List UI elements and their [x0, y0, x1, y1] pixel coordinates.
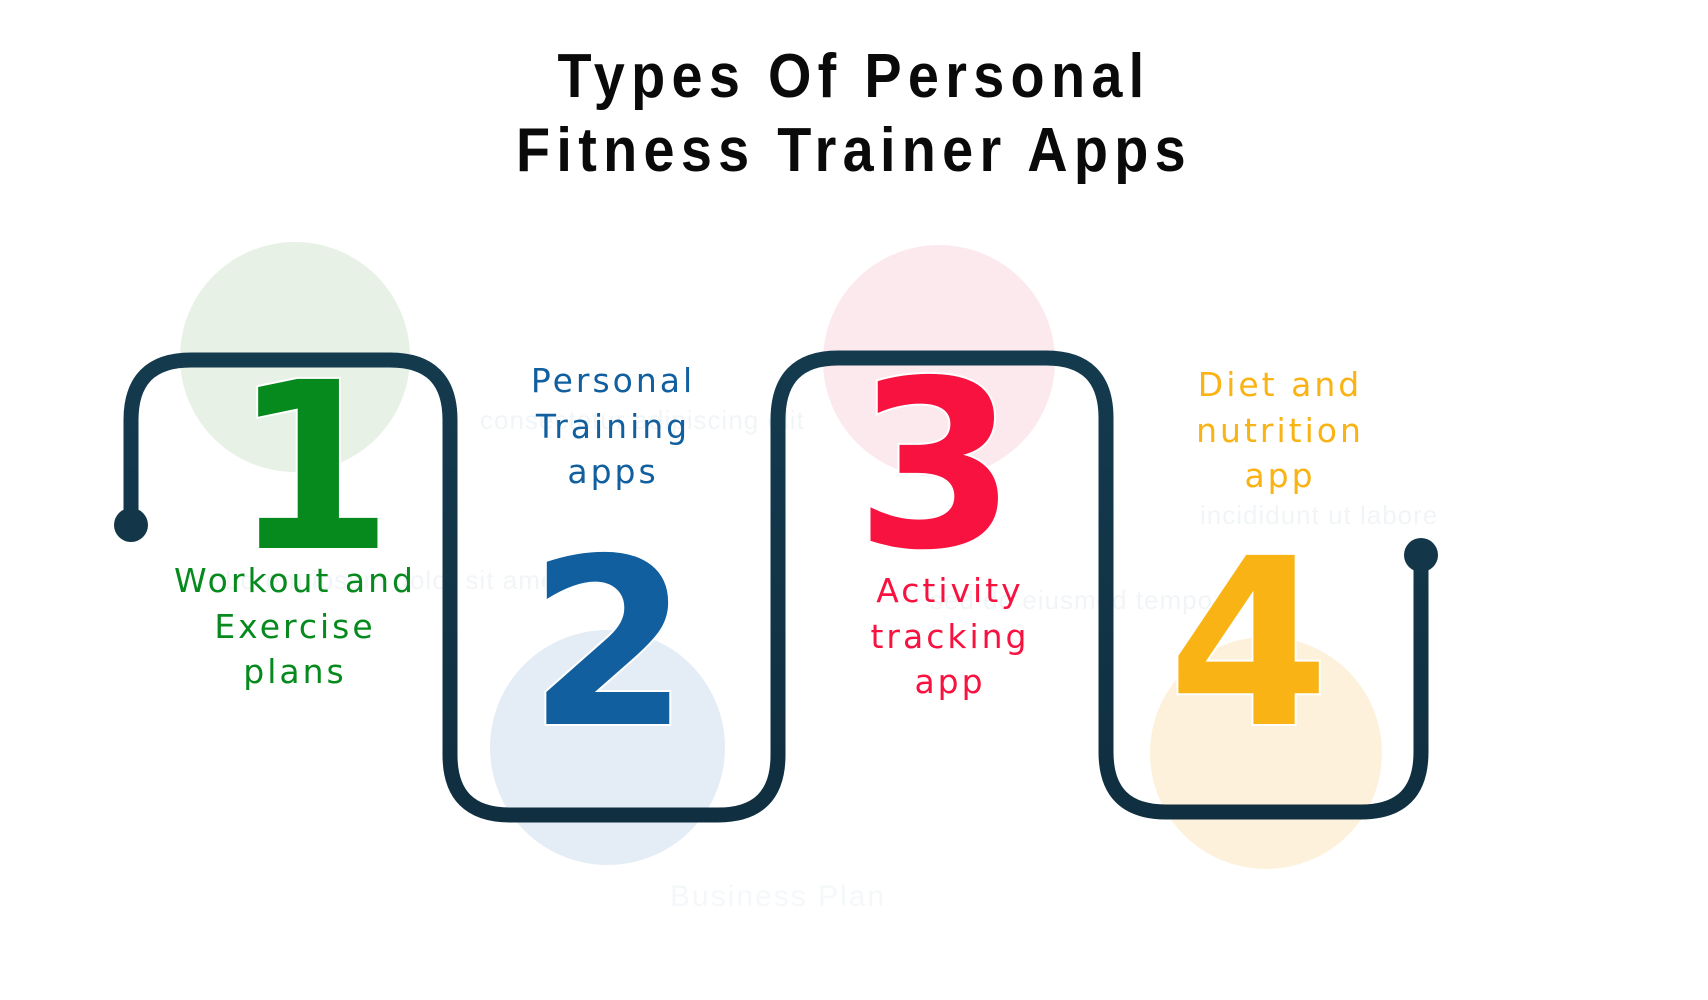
- step-label-1: Workout and Exercise plans: [135, 558, 455, 695]
- path-end-dot: [1404, 538, 1438, 572]
- step-number-1: 1: [232, 352, 393, 584]
- path-start-dot: [114, 508, 148, 542]
- step-number-3: 3: [855, 350, 1016, 582]
- infographic-canvas: Types Of Personal Fitness Trainer Apps L…: [0, 0, 1708, 1000]
- step-label-4: Diet and nutrition app: [1135, 362, 1425, 499]
- step-label-3: Activity tracking app: [805, 568, 1095, 705]
- step-label-2: Personal Training apps: [463, 358, 763, 495]
- step-number-4: 4: [1168, 528, 1329, 760]
- step-number-2: 2: [528, 528, 689, 760]
